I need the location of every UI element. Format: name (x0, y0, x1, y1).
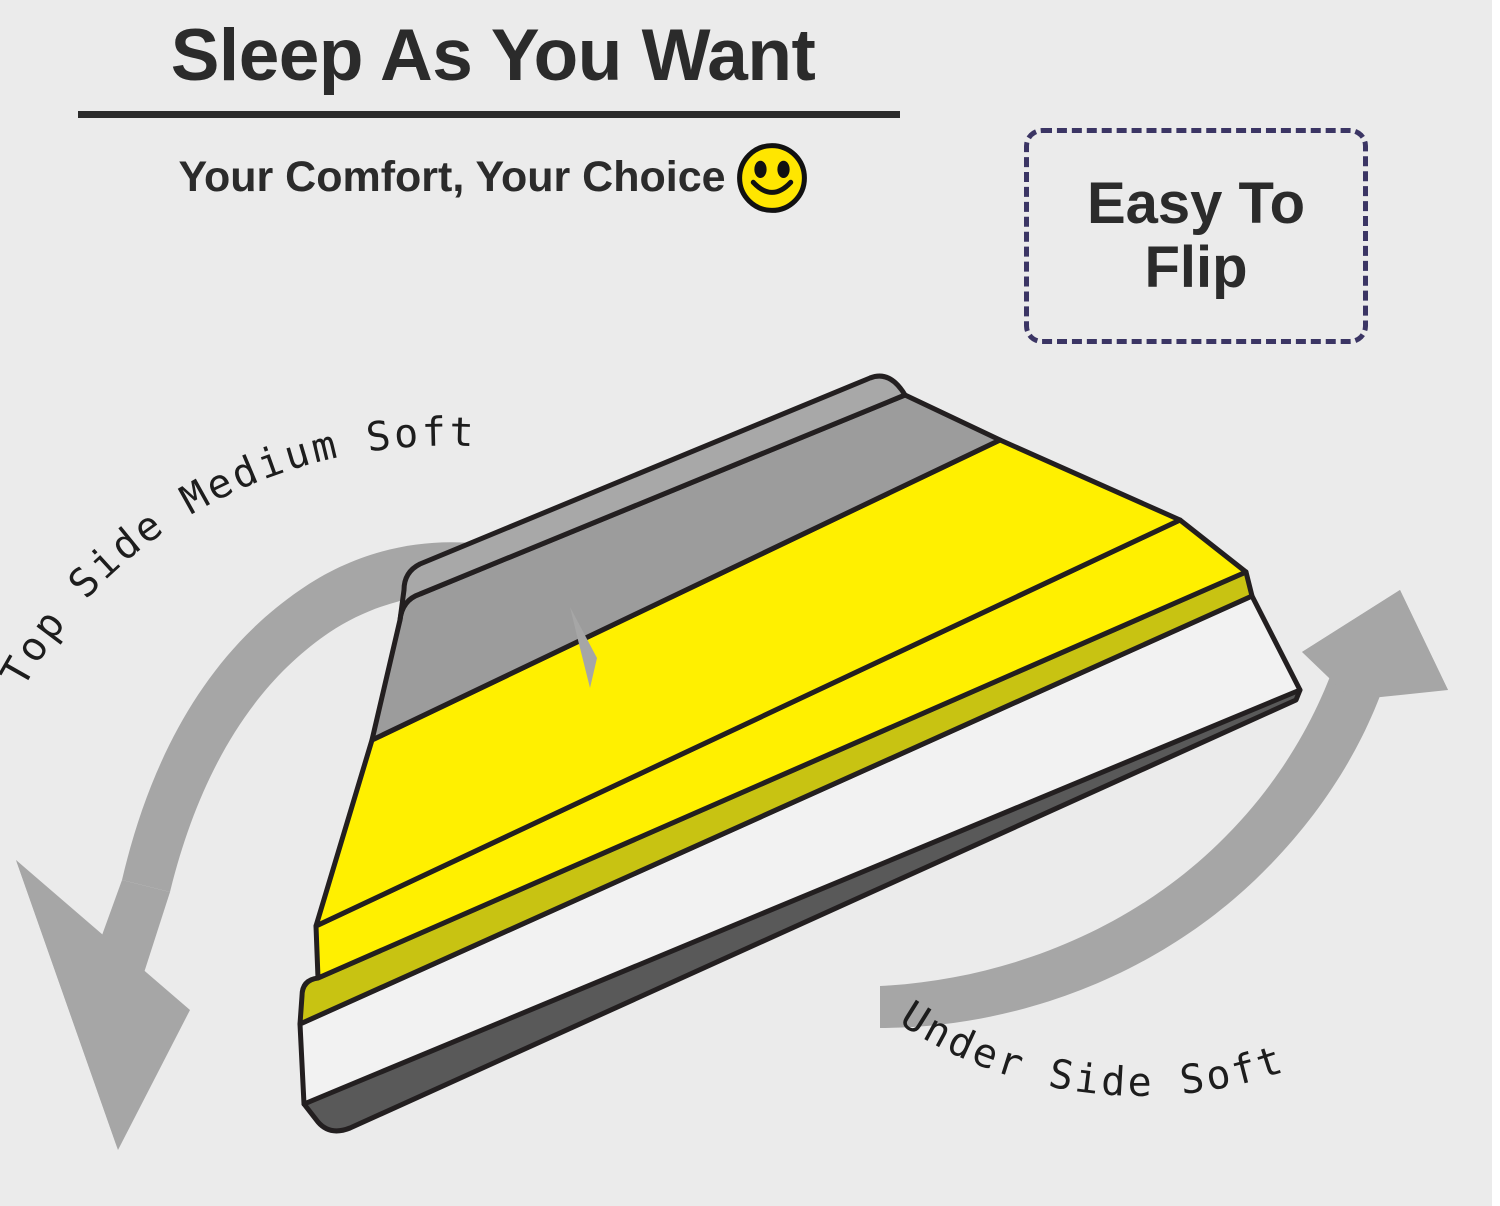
mattress-layer-gray-lower (372, 395, 1000, 740)
label-under-side: Under Side Soft (893, 993, 1291, 1106)
subtitle-row: Your Comfort, Your Choice (78, 142, 908, 214)
mattress-layer-yellow-main (316, 440, 1180, 926)
arrow-tail-tip (570, 607, 597, 688)
curved-arrow-down-icon (16, 542, 612, 1150)
label-under-side-text: Under Side Soft (893, 993, 1291, 1106)
product-infographic: Sleep As You Want Your Comfort, Your Cho… (0, 0, 1500, 1206)
mattress-layer-dark-gray-base (304, 672, 1300, 1131)
curved-arrow-up-icon (880, 590, 1448, 1028)
page-title: Sleep As You Want (78, 18, 908, 95)
badge-line-2: Flip (1144, 236, 1247, 300)
page-subtitle: Your Comfort, Your Choice (178, 153, 725, 202)
mattress-layer-white-core (300, 596, 1300, 1104)
mattress-block (300, 376, 1300, 1131)
label-top-side-text: Top Side Medium Soft (0, 409, 477, 693)
title-divider (78, 111, 900, 118)
mattress-layer-olive-stripe (300, 572, 1252, 1024)
label-top-side: Top Side Medium Soft (0, 409, 477, 693)
easy-to-flip-badge: Easy To Flip (1024, 128, 1368, 344)
smiley-face-icon (736, 142, 808, 214)
mattress-layer-yellow-lower (316, 520, 1246, 978)
header-block: Sleep As You Want Your Comfort, Your Cho… (78, 18, 908, 214)
right-edge-strip (1492, 0, 1500, 1206)
mattress-layer-gray-upper (400, 376, 905, 620)
badge-line-1: Easy To (1087, 172, 1305, 236)
